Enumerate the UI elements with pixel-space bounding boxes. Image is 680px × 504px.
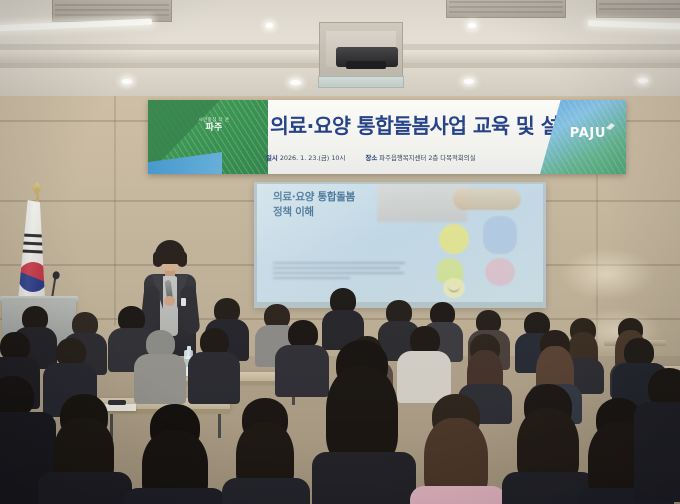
logo-left-name: 파주 [178,123,250,133]
event-banner: 시민중심 더 큰 파주 의료·요양 통합돌봄사업 교육 및 설명회 일시 202… [148,100,626,174]
downlight-6 [638,78,648,83]
screen-glare [257,184,543,302]
handout-paper [104,404,136,411]
seminar-photo-scene: 시민중심 더 큰 파주 의료·요양 통합돌봄사업 교육 및 설명회 일시 202… [0,0,680,504]
wall-vgroove-2 [114,96,116,326]
speaker-hand [164,296,175,306]
downlight-5 [464,79,474,84]
wall-light-glow-1 [560,248,656,300]
banner-date-label: 일시 [266,154,278,162]
paju-city-logo-left: 시민중심 더 큰 파주 [178,118,250,134]
banner-title: 의료·요양 통합돌봄사업 교육 및 설명회 [270,109,580,139]
banner-place-value: 파주읍행복지센터 2층 다목적회의실 [379,154,475,162]
phone-on-table [108,400,126,405]
banner-place-label: 장소 [365,154,377,162]
banner-date-value: 2026. 1. 23.(금) 10시 [280,154,346,162]
downlight-2 [468,23,476,28]
strip-light-right [588,20,680,30]
projector-recess [326,31,396,67]
air-vent-right [446,0,566,18]
air-vent-far-right [596,0,680,18]
speaker-name-badge [181,298,186,306]
projection-screen: 의료·요양 통합돌봄 정책 이해 [257,184,543,302]
downlight-1 [266,23,273,28]
projector-housing [319,22,403,82]
air-vent-left [52,0,172,22]
paju-logo-right: PAJU [570,126,606,141]
projection-screen-frame: 의료·요양 통합돌봄 정책 이해 [254,182,546,308]
downlight-3 [122,79,132,84]
ceiling-projector-icon [336,47,398,67]
banner-subtitle: 일시 2026. 1. 23.(금) 10시 장소 파주읍행복지센터 2층 다목… [266,153,566,162]
logo-left-tagline: 시민중심 더 큰 [178,118,250,123]
table-leg [218,414,221,438]
projector-mount-plate [318,76,404,88]
downlight-4 [290,80,301,85]
speaker-hair [155,240,185,264]
